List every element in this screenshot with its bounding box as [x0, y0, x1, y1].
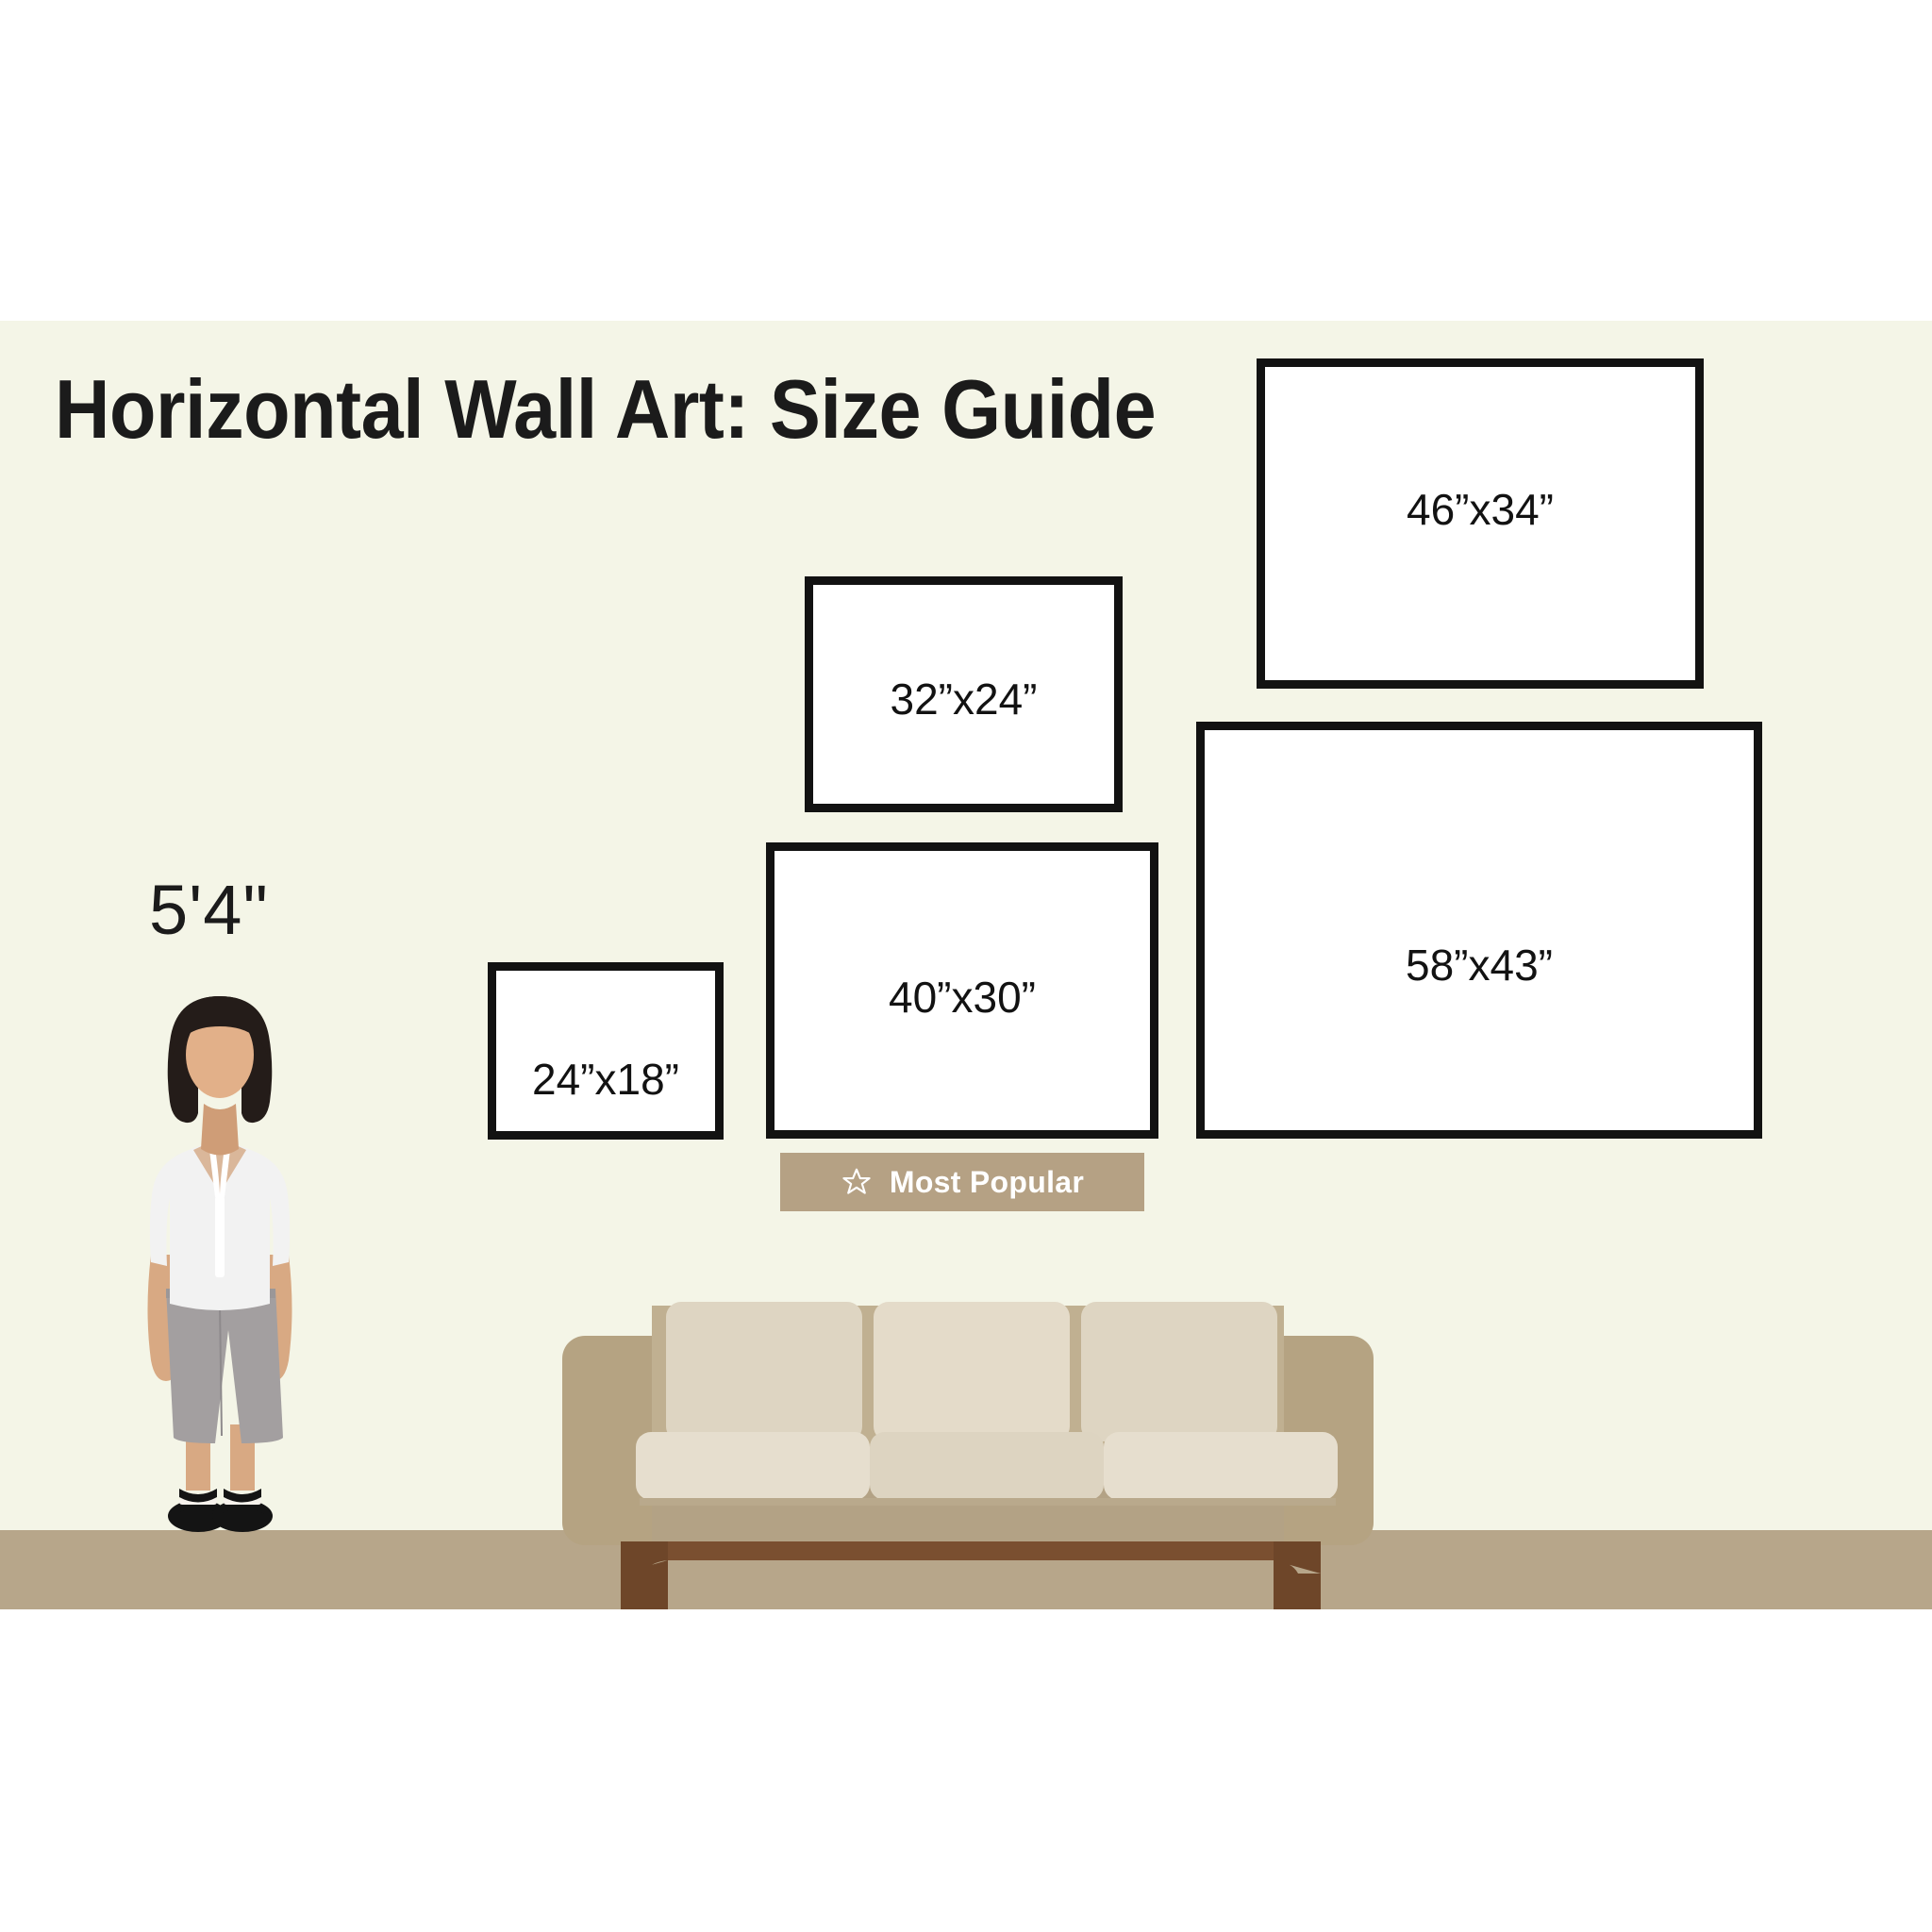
seat-cushion-left: [636, 1432, 870, 1500]
art-frame-46x34-label: 46”x34”: [1265, 484, 1695, 535]
most-popular-badge-label: Most Popular: [890, 1165, 1084, 1200]
art-frame-32x24-label: 32”x24”: [813, 674, 1114, 724]
art-frame-46x34[interactable]: 46”x34”: [1257, 358, 1704, 689]
sofa-leg-right: [1274, 1541, 1321, 1609]
art-frame-32x24[interactable]: 32”x24”: [805, 576, 1123, 812]
back-cushion-left: [666, 1302, 862, 1441]
sofa-rail: [621, 1541, 1321, 1560]
blouse: [150, 1140, 290, 1310]
sofa: [562, 1289, 1374, 1611]
seat-shadow: [640, 1498, 1336, 1506]
art-frame-24x18-label: 24”x18”: [496, 1054, 715, 1105]
art-frame-58x43-label: 58”x43”: [1205, 940, 1754, 991]
back-cushion-right: [1081, 1302, 1277, 1441]
wall-art-size-guide-infographic: Horizontal Wall Art: Size Guide 5'4": [0, 0, 1932, 1932]
page-title: Horizontal Wall Art: Size Guide: [55, 366, 1156, 453]
person-height-label: 5'4": [149, 870, 269, 950]
art-frame-40x30[interactable]: 40”x30”: [766, 842, 1158, 1139]
back-cushion-center: [874, 1302, 1070, 1441]
art-frame-24x18[interactable]: 24”x18”: [488, 962, 724, 1140]
neck: [201, 1104, 239, 1156]
pants: [166, 1289, 283, 1443]
person-scale-figure: [121, 972, 319, 1538]
art-frame-58x43[interactable]: 58”x43”: [1196, 722, 1762, 1139]
most-popular-badge[interactable]: Most Popular: [780, 1153, 1144, 1211]
sofa-leg-left: [621, 1541, 668, 1609]
seat-cushion-center: [870, 1432, 1104, 1500]
seat-cushion-right: [1104, 1432, 1338, 1500]
star-outline-icon: [841, 1166, 873, 1198]
art-frame-40x30-label: 40”x30”: [774, 972, 1150, 1023]
right-shoe: [212, 1489, 273, 1532]
